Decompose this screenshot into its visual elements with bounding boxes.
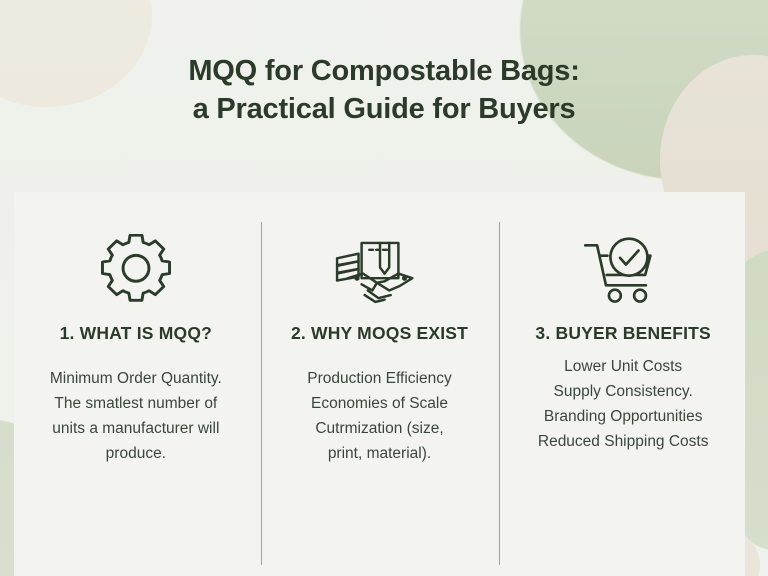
title-line-1: MQQ for Compostable Bags: xyxy=(0,52,768,90)
column-body-1: Minimum Order Quantity. The smatlest num… xyxy=(28,366,244,466)
column-heading-3: 3. BUYER BENEFITS xyxy=(515,322,731,344)
cart-check-icon xyxy=(515,226,731,312)
column-body-2: Production Efficiency Economies of Scale… xyxy=(272,366,488,466)
column-buyer-benefits: 3. BUYER BENEFITS Lower Unit Costs Suppl… xyxy=(501,192,745,576)
column-what-is-mqq: 1. WHAT IS MQQ? Minimum Order Quantity. … xyxy=(14,192,258,576)
page-title: MQQ for Compostable Bags: a Practical Gu… xyxy=(0,52,768,128)
gear-icon xyxy=(28,226,244,312)
infographic-canvas: MQQ for Compostable Bags: a Practical Gu… xyxy=(0,0,768,576)
handshake-bag-icon xyxy=(272,226,488,312)
column-why-moqs-exist: 2. WHY MOQS EXIST Production Efficiency … xyxy=(258,192,502,576)
title-line-2: a Practical Guide for Buyers xyxy=(0,90,768,128)
column-heading-2: 2. WHY MOQS EXIST xyxy=(272,322,488,344)
column-heading-1: 1. WHAT IS MQQ? xyxy=(28,322,244,344)
column-body-3: Lower Unit Costs Supply Consistency. Bra… xyxy=(515,354,731,454)
content-card: 1. WHAT IS MQQ? Minimum Order Quantity. … xyxy=(14,192,745,576)
